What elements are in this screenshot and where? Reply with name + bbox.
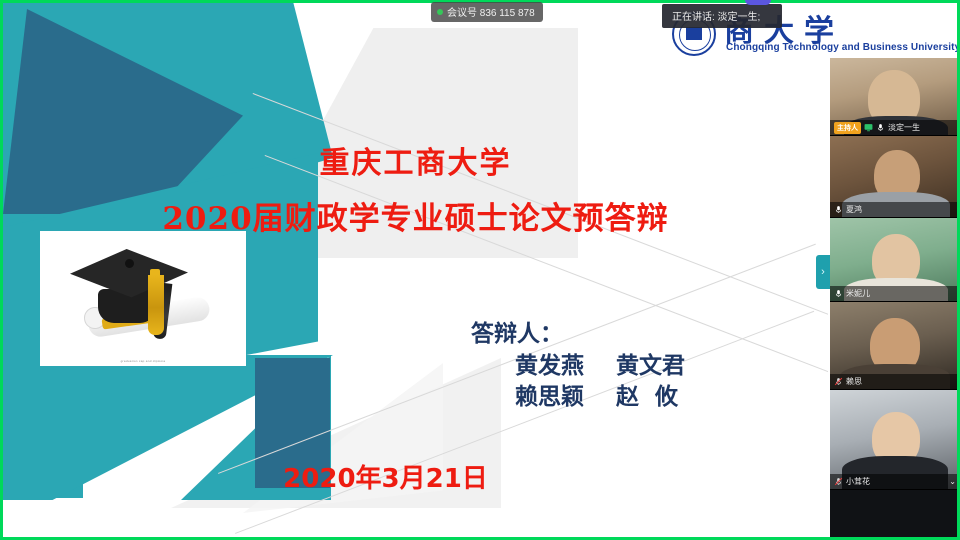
participant-name: 米妮儿: [846, 288, 870, 299]
tile-info-bar: 米妮儿: [830, 286, 960, 301]
collapse-panel-button[interactable]: ›: [816, 255, 830, 289]
tile-info-bar: 主持人 淡定一生: [830, 120, 960, 135]
chevron-down-icon[interactable]: ⌄: [949, 477, 956, 486]
shared-slide: graduation cap and diploma 重庆工商大学 2020届财…: [3, 3, 828, 537]
host-badge: 主持人: [834, 122, 861, 134]
tile-info-bar: 赖思: [830, 374, 960, 389]
seal-inner-mark: [686, 27, 702, 40]
graduation-photo: graduation cap and diploma: [40, 231, 246, 366]
speaking-wave-icon: [745, 0, 771, 5]
meeting-id-pill: 会议号 836 115 878: [431, 2, 543, 22]
mic-on-icon: [834, 289, 843, 298]
participant-name: 小茸花: [846, 476, 870, 487]
participant-tile[interactable]: 夏鸿: [830, 136, 960, 218]
screen-share-icon: [864, 123, 873, 132]
presenter-label: 答辩人：: [471, 314, 563, 348]
participant-tile[interactable]: 主持人 淡定一生: [830, 58, 960, 136]
participant-name: 赖思: [846, 376, 862, 387]
mic-on-icon: [876, 123, 885, 132]
mic-off-icon: [834, 477, 843, 486]
participant-name: 淡定一生: [888, 122, 920, 133]
slide-title-line1: 重庆工商大学: [3, 138, 828, 182]
participant-tile[interactable]: 米妮儿: [830, 218, 960, 302]
participant-tile[interactable]: 赖思: [830, 302, 960, 390]
screen: graduation cap and diploma 重庆工商大学 2020届财…: [0, 0, 960, 540]
presenter-row-1: 黄发燕 黄文君: [515, 346, 685, 380]
cap-knot: [125, 259, 134, 268]
speaking-banner: 正在讲话: 淡定一生;: [662, 4, 782, 28]
mic-off-icon: [834, 377, 843, 386]
participant-name: 夏鸿: [846, 204, 862, 215]
tile-info-bar: 夏鸿: [830, 202, 960, 217]
slide-date: 2020年3月21日: [3, 458, 828, 495]
recording-dot-icon: [437, 9, 443, 15]
slide-title-line2: 2020届财政学专业硕士论文预答辩: [3, 193, 828, 238]
taskbar: e 2020年研究生报名... 搜索一下: [0, 510, 960, 540]
chevron-right-icon: ›: [821, 266, 825, 278]
university-name-en: Chongqing Technology and Business Univer…: [726, 42, 960, 53]
mic-on-icon: [834, 205, 843, 214]
photo-caption: graduation cap and diploma: [40, 359, 246, 363]
participant-video-strip: 主持人 淡定一生: [830, 58, 960, 540]
meeting-id-label: 会议号 836 115 878: [447, 4, 535, 19]
presenter-row-2: 赖思颖 赵 攸: [515, 377, 678, 411]
participant-tile[interactable]: 小茸花 ⌄: [830, 390, 960, 490]
tile-info-bar: 小茸花 ⌄: [830, 474, 960, 489]
tassel-gold: [148, 275, 164, 335]
